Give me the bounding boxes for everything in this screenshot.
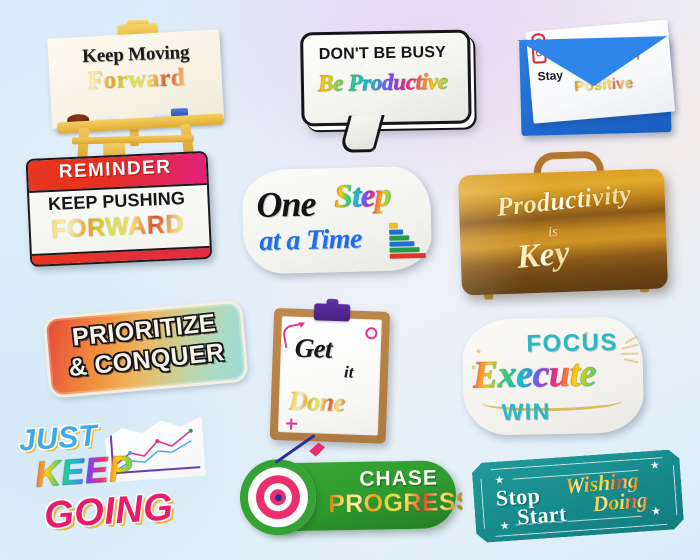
- sticker-chase-progress[interactable]: CHASE PROGRESS: [239, 450, 461, 546]
- start-doing-word-doing: Doing: [591, 487, 648, 518]
- focus-line2: Execute: [473, 351, 597, 397]
- sticker-one-step-at-a-time[interactable]: One Step at a Time: [242, 166, 439, 287]
- chase-progress-line2: PROGRESS: [328, 488, 462, 519]
- star-icon: ★: [650, 460, 661, 472]
- focus-line3: WIN: [501, 398, 551, 426]
- start-doing-word-start: Start: [516, 501, 567, 530]
- sticker-keep-moving-forward[interactable]: Keep Moving Forward: [39, 14, 234, 161]
- keep-moving-line2: Forward: [61, 63, 212, 97]
- one-step-line2: at a Time: [259, 223, 362, 257]
- envelope-flap-icon: [517, 36, 668, 88]
- sticker-dont-be-busy[interactable]: DON'T BE BUSY Be Productive: [290, 21, 478, 152]
- get-it-done-line3: Done: [288, 386, 345, 418]
- plus-accent-icon: [286, 418, 297, 429]
- sticker-stay-focused-stay-positive[interactable]: Stay Focused, Stay Positive: [508, 11, 684, 151]
- sticker-get-it-done[interactable]: Get it Done: [269, 298, 398, 448]
- dont-be-busy-line2: Be Productive: [305, 69, 461, 98]
- reminder-footer-band: [32, 246, 210, 265]
- productivity-line3: Key: [515, 234, 571, 276]
- sticker-just-keep-going[interactable]: JUST KEEP GOING: [8, 407, 227, 555]
- easel-crossbar: [72, 135, 194, 145]
- get-it-done-line2: it: [344, 362, 354, 382]
- sticker-stop-wishing-start-doing[interactable]: ★ ★ ★ ★ Stop Wishing Start Doing: [467, 441, 691, 556]
- star-icon: ★: [499, 521, 510, 533]
- get-it-done-line1: Get: [294, 333, 332, 365]
- dont-be-busy-line1: DON'T BE BUSY: [306, 44, 458, 65]
- one-step-word-step: Step: [334, 178, 392, 216]
- star-icon: ★: [651, 506, 662, 518]
- just-keep-going-line3: GOING: [43, 486, 175, 538]
- sticker-focus-execute-win[interactable]: FOCUS Execute WIN: [462, 316, 650, 441]
- one-step-word-one: One: [256, 183, 316, 226]
- staircase-bars-icon: [389, 220, 428, 259]
- sticker-prioritize-and-conquer[interactable]: PRIORITIZE & CONQUER: [45, 301, 252, 404]
- clipboard-clip-icon: [314, 303, 351, 321]
- sticker-productivity-is-key[interactable]: Productivity is Key: [449, 148, 676, 314]
- just-keep-going-line2: KEEP: [34, 449, 134, 496]
- sticker-sheet-canvas: Keep Moving Forward DON'T BE BUSY Be Pro…: [0, 0, 700, 560]
- sunburst-rays-icon: [616, 339, 638, 365]
- sticker-reminder-keep-pushing-forward[interactable]: REMINDER KEEP PUSHING FORWARD: [26, 151, 211, 271]
